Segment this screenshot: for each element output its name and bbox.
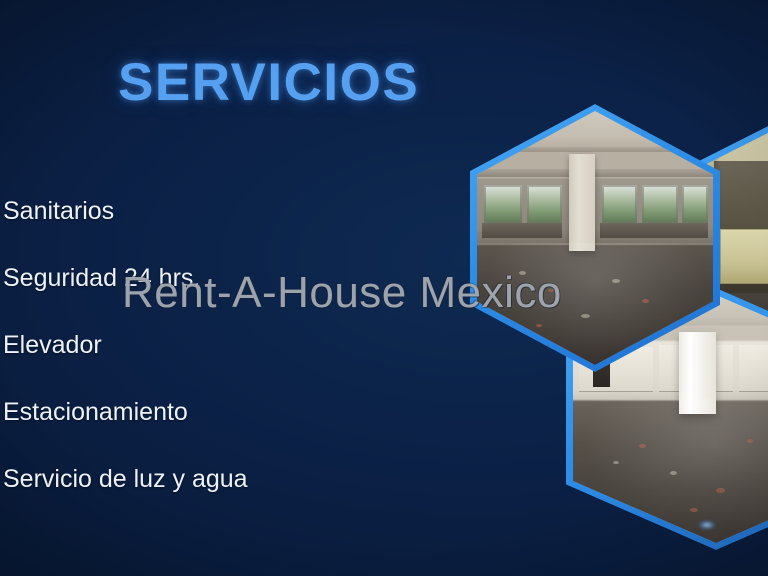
list-item: Sanitarios (3, 178, 433, 245)
list-item: Elevador (3, 312, 433, 379)
service-label: Estacionamiento (3, 400, 188, 425)
lens-glint (698, 520, 716, 530)
services-list: Sanitarios Seguridad 24 hrs. Elevador Es… (3, 178, 433, 513)
service-label: Seguridad 24 hrs. (3, 266, 200, 291)
service-label: Sanitarios (3, 199, 114, 224)
list-item: Estacionamiento (3, 379, 433, 446)
list-item: Servicio de luz y agua (3, 446, 433, 513)
page-title: SERVICIOS (118, 56, 419, 109)
slide-canvas: SERVICIOS Sanitarios Seguridad 24 hrs. E… (0, 0, 768, 576)
service-label: Servicio de luz y agua (3, 467, 248, 492)
list-item: Seguridad 24 hrs. (3, 245, 433, 312)
service-label: Elevador (3, 333, 102, 358)
